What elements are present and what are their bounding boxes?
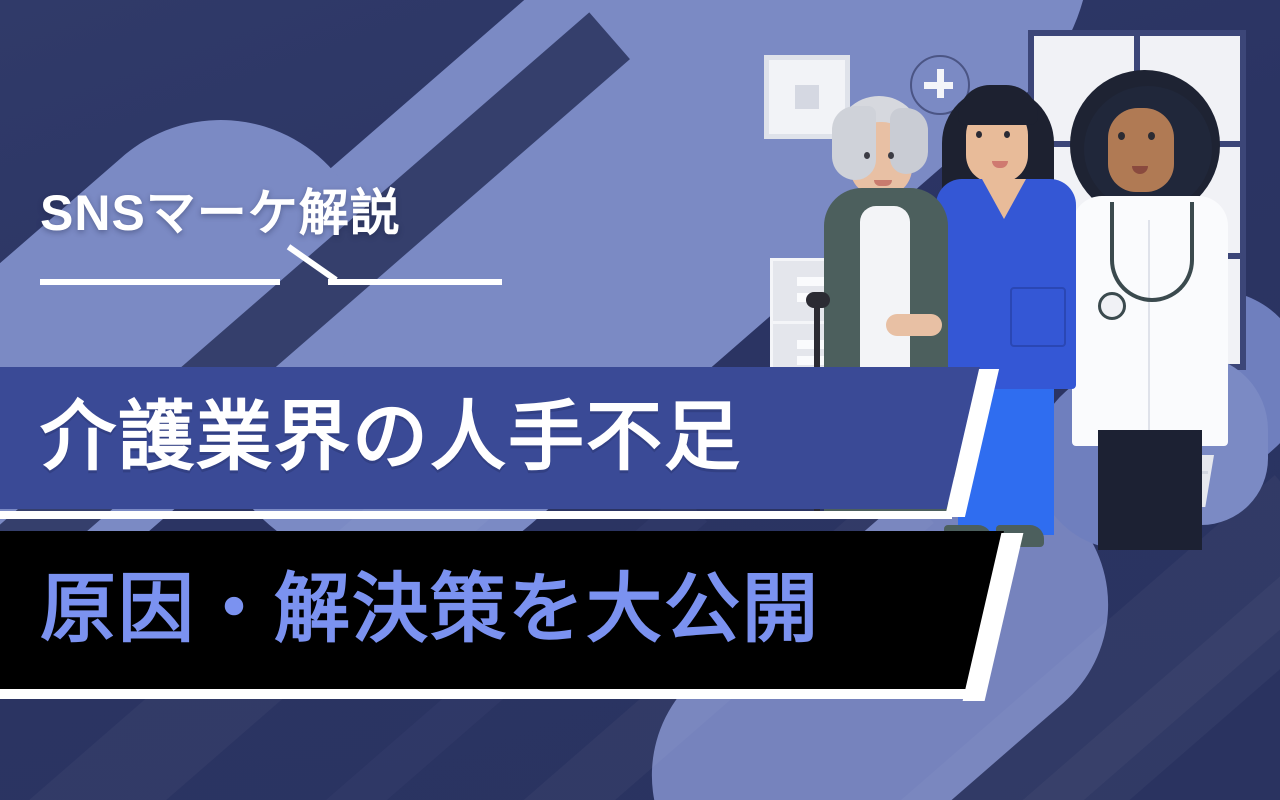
doctor-eye <box>1148 132 1155 140</box>
eyebrow-rule-left <box>40 279 280 285</box>
elderly-eye <box>888 152 894 159</box>
stethoscope-tube-icon <box>1110 202 1194 302</box>
headline-banner-primary: 介護業界の人手不足 <box>0 367 980 509</box>
headline-line-2: 原因・解決策を大公開 <box>40 572 820 648</box>
thumbnail-canvas: SNSマーケ解説 介護業界の人手不足 原因・解決策を大公開 <box>0 0 1280 800</box>
eyebrow-rule-right <box>328 279 502 285</box>
headline-banner-primary-underline <box>0 511 952 519</box>
headline-banner-secondary: 原因・解決策を大公開 <box>0 531 1004 689</box>
doctor-figure <box>1070 70 1230 540</box>
nurse-bangs <box>958 85 1038 125</box>
elderly-hair-right <box>890 108 928 174</box>
stethoscope-head-icon <box>1098 292 1126 320</box>
nurse-eye <box>976 131 982 138</box>
headline-line-1: 介護業界の人手不足 <box>40 400 742 476</box>
eyebrow-label: SNSマーケ解説 <box>40 188 401 238</box>
elderly-arm <box>886 314 942 336</box>
doctor-pants <box>1098 430 1202 550</box>
picture-frame-inner <box>795 85 819 109</box>
elderly-eye <box>864 152 870 159</box>
doctor-face <box>1108 108 1174 192</box>
nurse-eye <box>1004 131 1010 138</box>
elderly-hair-left <box>832 106 876 180</box>
doctor-eye <box>1118 132 1125 140</box>
nurse-pocket <box>1010 287 1066 347</box>
headline-banner-secondary-underline <box>0 689 974 699</box>
